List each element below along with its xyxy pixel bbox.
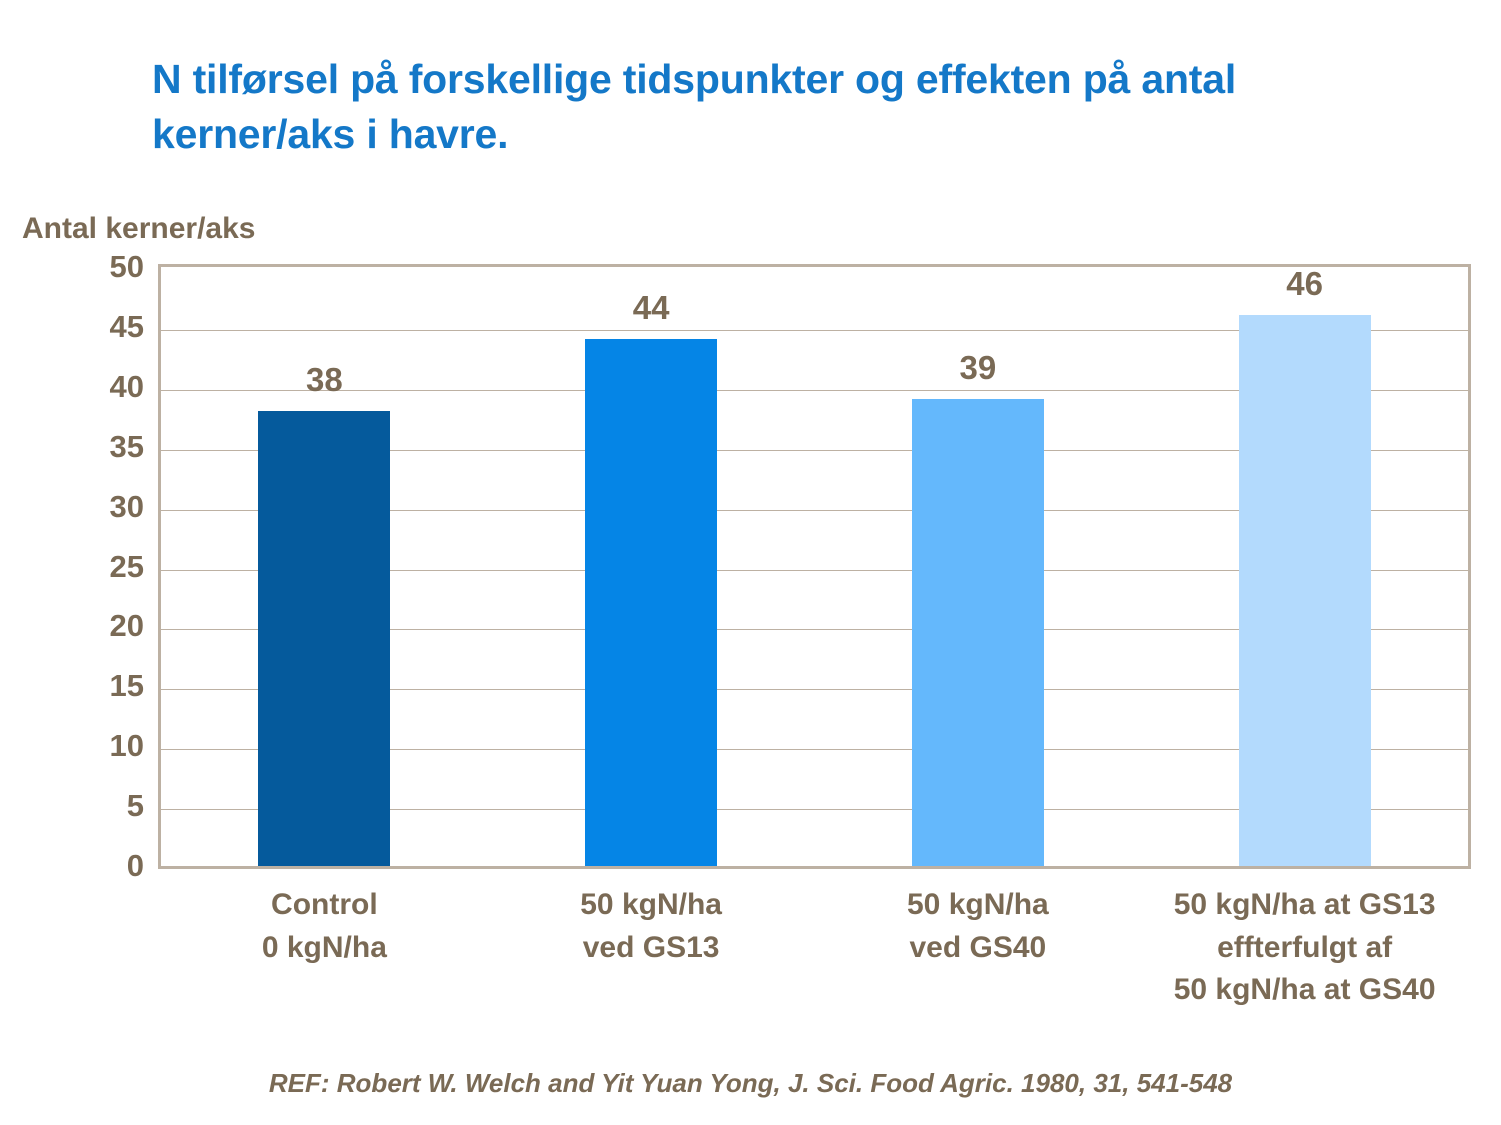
y-axis-title: Antal kerner/aks	[22, 212, 255, 246]
y-axis-tick-label: 20	[110, 608, 144, 644]
y-axis-tick-label: 40	[110, 369, 144, 405]
bar-4[interactable]: 46	[1239, 315, 1371, 866]
x-axis-label-3: 50 kgN/haved GS40	[815, 884, 1142, 969]
bar-rect	[258, 411, 390, 866]
x-axis-label-4: 50 kgN/ha at GS13effterfulgt af50 kgN/ha…	[1141, 884, 1468, 1012]
y-axis-tick-label: 50	[110, 249, 144, 285]
x-axis-label-line: 50 kgN/ha at GS13	[1141, 884, 1468, 927]
x-axis-label-line: Control	[161, 884, 488, 927]
bar-2[interactable]: 44	[585, 339, 717, 866]
y-axis-tick-label: 0	[127, 848, 144, 884]
y-axis-tick-label: 25	[110, 549, 144, 585]
y-axis-tick-label: 5	[127, 788, 144, 824]
x-axis-label-line: 50 kgN/ha	[815, 884, 1142, 927]
y-axis-tick-label: 10	[110, 728, 144, 764]
bar-value-label: 46	[1286, 265, 1323, 303]
x-axis-label-line: 50 kgN/ha	[488, 884, 815, 927]
x-axis-label-line: 50 kgN/ha at GS40	[1141, 969, 1468, 1012]
x-axis-label-2: 50 kgN/haved GS13	[488, 884, 815, 969]
y-axis-tick-label: 30	[110, 489, 144, 525]
chart-title: N tilførsel på forskellige tidspunkter o…	[152, 52, 1412, 161]
y-axis-tick-label: 45	[110, 309, 144, 345]
x-axis-category-labels: Control0 kgN/ha50 kgN/haved GS1350 kgN/h…	[158, 884, 1471, 1034]
x-axis-label-line: effterfulgt af	[1141, 927, 1468, 970]
x-axis-label-line: ved GS13	[488, 927, 815, 970]
bar-value-label: 38	[306, 361, 343, 399]
bar-value-label: 44	[633, 289, 670, 327]
bar-rect	[1239, 315, 1371, 866]
bar-value-label: 39	[960, 349, 997, 387]
bar-1[interactable]: 38	[258, 411, 390, 866]
x-axis-label-1: Control0 kgN/ha	[161, 884, 488, 969]
bar-rect	[912, 399, 1044, 866]
y-axis-tick-label: 35	[110, 429, 144, 465]
x-axis-label-line: 0 kgN/ha	[161, 927, 488, 970]
bar-rect	[585, 339, 717, 866]
y-axis-tick-label: 15	[110, 668, 144, 704]
bar-3[interactable]: 39	[912, 399, 1044, 866]
y-axis-tick-labels: 50454035302520151050	[44, 264, 144, 869]
reference-citation: REF: Robert W. Welch and Yit Yuan Yong, …	[0, 1068, 1501, 1099]
x-axis-label-line: ved GS40	[815, 927, 1142, 970]
